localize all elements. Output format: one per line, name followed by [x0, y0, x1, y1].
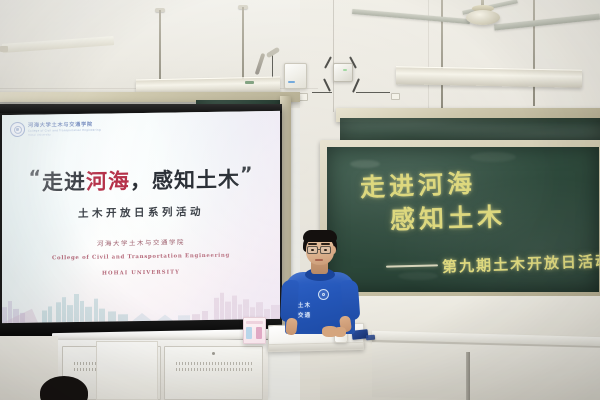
- carton-top-band: [246, 321, 263, 324]
- front-desk-front: [372, 342, 600, 400]
- carton-stripe: [246, 327, 252, 339]
- title-part-red: 河海: [86, 169, 130, 194]
- quote-open: “: [29, 167, 43, 189]
- city-skyline-graphic: [2, 285, 280, 323]
- cable-run: [356, 84, 390, 93]
- carton-stripe: [256, 327, 262, 339]
- presenter-hand: [334, 327, 346, 337]
- podium-vent: [176, 362, 252, 365]
- presenter-right-sleeve: [341, 279, 361, 320]
- wall-mounted-box: [284, 63, 307, 89]
- presenter-eyebrow: [321, 243, 330, 245]
- title-part-2: ，感知土木: [130, 167, 240, 193]
- wall-seam: [333, 0, 334, 112]
- podium-door-knob[interactable]: [212, 352, 215, 355]
- chalk-smudge: [470, 152, 516, 162]
- cable-run: [312, 84, 332, 93]
- eyeglass-bridge: [318, 249, 320, 250]
- blackboard-line-2: 感知土木: [390, 197, 507, 236]
- presenter-eye: [324, 249, 327, 251]
- wifi-access-point: [333, 63, 353, 82]
- quote-close: ”: [240, 163, 254, 185]
- hanger-rod: [533, 0, 535, 106]
- blue-device-part: [366, 335, 375, 341]
- hohai-seal-icon: [10, 122, 25, 137]
- podium-vent: [176, 368, 252, 371]
- university-emblem-icon: [318, 289, 329, 300]
- presentation-slide: 河海大学土木与交通学院 College of Civil and Transpo…: [2, 111, 280, 323]
- slide-title: “走进河海，感知土木”: [2, 163, 280, 197]
- light-fixture-end-cap: [0, 46, 8, 52]
- classroom-photo-scene: 河海大学土木与交通学院 College of Civil and Transpo…: [0, 0, 600, 400]
- blackboard-upper-strip: [340, 118, 600, 140]
- fluorescent-light-fixture: [396, 66, 582, 88]
- presenter-ear: [331, 246, 336, 254]
- desk-leg: [466, 352, 470, 400]
- presenter-left-sleeve: [280, 280, 299, 323]
- podium-side-panel: [96, 341, 158, 400]
- shirt-text-line-1: 土木: [298, 301, 311, 309]
- presenter-hairline: [303, 230, 337, 242]
- box-indicator-led: [288, 81, 295, 83]
- presenter-eyebrow: [308, 243, 317, 245]
- fixture-label: [245, 81, 254, 84]
- wifi-status-led: [343, 69, 347, 71]
- presenter-mouth: [315, 259, 323, 261]
- ceiling-fan-hub: [466, 10, 500, 25]
- presenter-eye: [311, 249, 314, 251]
- slide-logo: 河海大学土木与交通学院 College of Civil and Transpo…: [10, 121, 101, 137]
- chalk-smudge: [398, 272, 438, 280]
- wall-outlet: [391, 93, 400, 100]
- title-part-1: 走进: [42, 170, 86, 195]
- shirt-text-line-2: 交通: [298, 311, 311, 319]
- logo-chinese-name: 河海大学土木与交通学院: [28, 121, 101, 129]
